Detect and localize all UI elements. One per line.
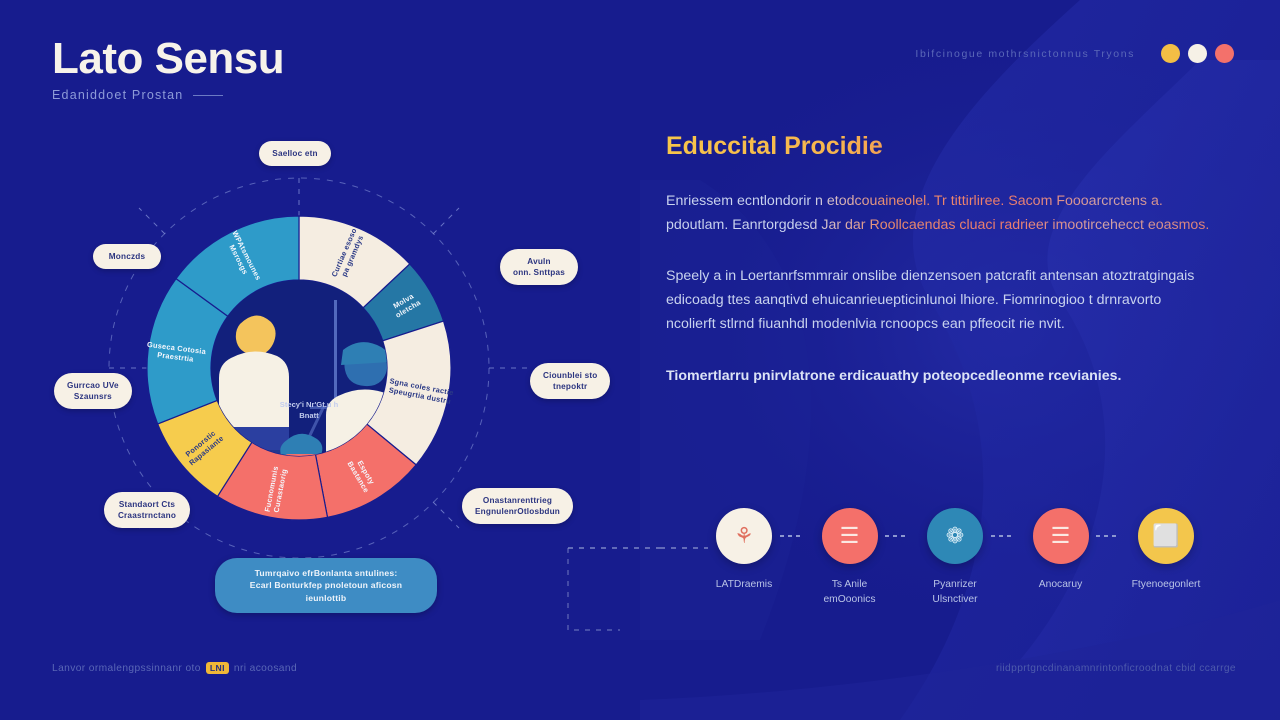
donut-center-note: Stecy'i Nr'Gt.u h Bnatt xyxy=(254,400,364,421)
page-subtitle: Edaniddoet Prostan xyxy=(52,88,183,102)
document-icon[interactable]: ☰ xyxy=(822,508,878,564)
pill-right-mid[interactable]: Ciounblei sto tnepoktr xyxy=(530,363,610,399)
dot-gold[interactable] xyxy=(1161,44,1180,63)
icon-connector-dash xyxy=(885,535,905,537)
connections-icon-glyph: ⚘ xyxy=(734,525,754,547)
icon-feature-caption: Ftyenoegonlert xyxy=(1132,578,1201,593)
device-icon[interactable]: ⬜ xyxy=(1138,508,1194,564)
body-paragraph-2: Speely a in Loertanrfsmmrair onslibe die… xyxy=(666,264,1214,337)
icon-feature-caption: Ts Anile emOoonics xyxy=(823,578,875,608)
icon-feature-item[interactable]: ⬜Ftyenoegonlert xyxy=(1122,508,1210,593)
icon-feature-caption: Pyanrizer Ulsnctiver xyxy=(932,578,977,608)
pill-right-lower[interactable]: Onastanrenttrieg EngnulenrOtlosbdun xyxy=(462,488,573,524)
body-paragraph-1: Enriessem ecntlondorir n etodcouaineolel… xyxy=(666,189,1214,238)
document-icon-glyph: ☰ xyxy=(840,525,860,547)
footer-right: riidpprtgncdinanamnrintonficroodnat cbid… xyxy=(996,663,1236,674)
footer-left: Lanvor ormalengpssinnanr oto LNI nri aco… xyxy=(52,662,297,674)
right-content-panel: Educcital Procidie Enriessem ecntlondori… xyxy=(666,132,1214,388)
pill-left-lower[interactable]: Standaort Cts Craastrnctano xyxy=(104,492,190,528)
icon-feature-row: ⚘LATDraemis☰Ts Anile emOoonics❁Pyanrizer… xyxy=(700,508,1210,628)
pill-right-upper[interactable]: Avuln onn. Snttpas xyxy=(500,249,578,285)
donut-chart-region: Curtiae esosopa gramdysMolvaoletchaSgna … xyxy=(34,110,644,630)
top-right-group: Ibifcinogue mothrsnictonnus Tryons xyxy=(915,44,1234,63)
pill-left-mid[interactable]: Gurrcao UVe Szaunsrs xyxy=(54,373,132,409)
icon-feature-caption: LATDraemis xyxy=(716,578,772,593)
page-subtitle-row: Edaniddoet Prostan xyxy=(52,88,284,102)
icon-connector-dash xyxy=(991,535,1011,537)
pill-left-upper[interactable]: Monczds xyxy=(93,244,161,269)
dot-indicator-group[interactable] xyxy=(1161,44,1234,63)
target-icon-glyph: ❁ xyxy=(946,525,964,547)
balance-icon-glyph: ☰ xyxy=(1051,525,1071,547)
page-title: Lato Sensu xyxy=(52,36,284,82)
dot-coral[interactable] xyxy=(1215,44,1234,63)
page-header: Lato Sensu Edaniddoet Prostan xyxy=(52,36,284,102)
icon-feature-item[interactable]: ⚘LATDraemis xyxy=(700,508,788,593)
icon-feature-caption: Anocaruy xyxy=(1039,578,1083,593)
footer-left-post: nri acoosand xyxy=(234,663,297,674)
device-icon-glyph: ⬜ xyxy=(1152,525,1179,547)
icon-feature-item[interactable]: ☰Anocaruy xyxy=(1017,508,1105,593)
subtitle-rule xyxy=(193,95,223,96)
footer-badge: LNI xyxy=(206,662,229,674)
body-bold-line: Tiomertlarru pnirvlatrone erdicauathy po… xyxy=(666,365,1214,388)
icon-connector-dash xyxy=(780,535,800,537)
top-right-label: Ibifcinogue mothrsnictonnus Tryons xyxy=(915,48,1135,60)
balance-icon[interactable]: ☰ xyxy=(1033,508,1089,564)
target-icon[interactable]: ❁ xyxy=(927,508,983,564)
footer-left-pre: Lanvor ormalengpssinnanr oto xyxy=(52,663,201,674)
dot-cream[interactable] xyxy=(1188,44,1207,63)
icon-feature-item[interactable]: ☰Ts Anile emOoonics xyxy=(806,508,894,608)
icon-feature-item[interactable]: ❁Pyanrizer Ulsnctiver xyxy=(911,508,999,608)
connections-icon[interactable]: ⚘ xyxy=(716,508,772,564)
icon-connector-dash xyxy=(1096,535,1116,537)
bottom-summary-pill[interactable]: Tumrqaivo efrBonlanta sntulines: Ecarl B… xyxy=(215,558,437,613)
section-heading: Educcital Procidie xyxy=(666,132,1214,161)
pill-top[interactable]: Saelloc etn xyxy=(259,141,331,166)
